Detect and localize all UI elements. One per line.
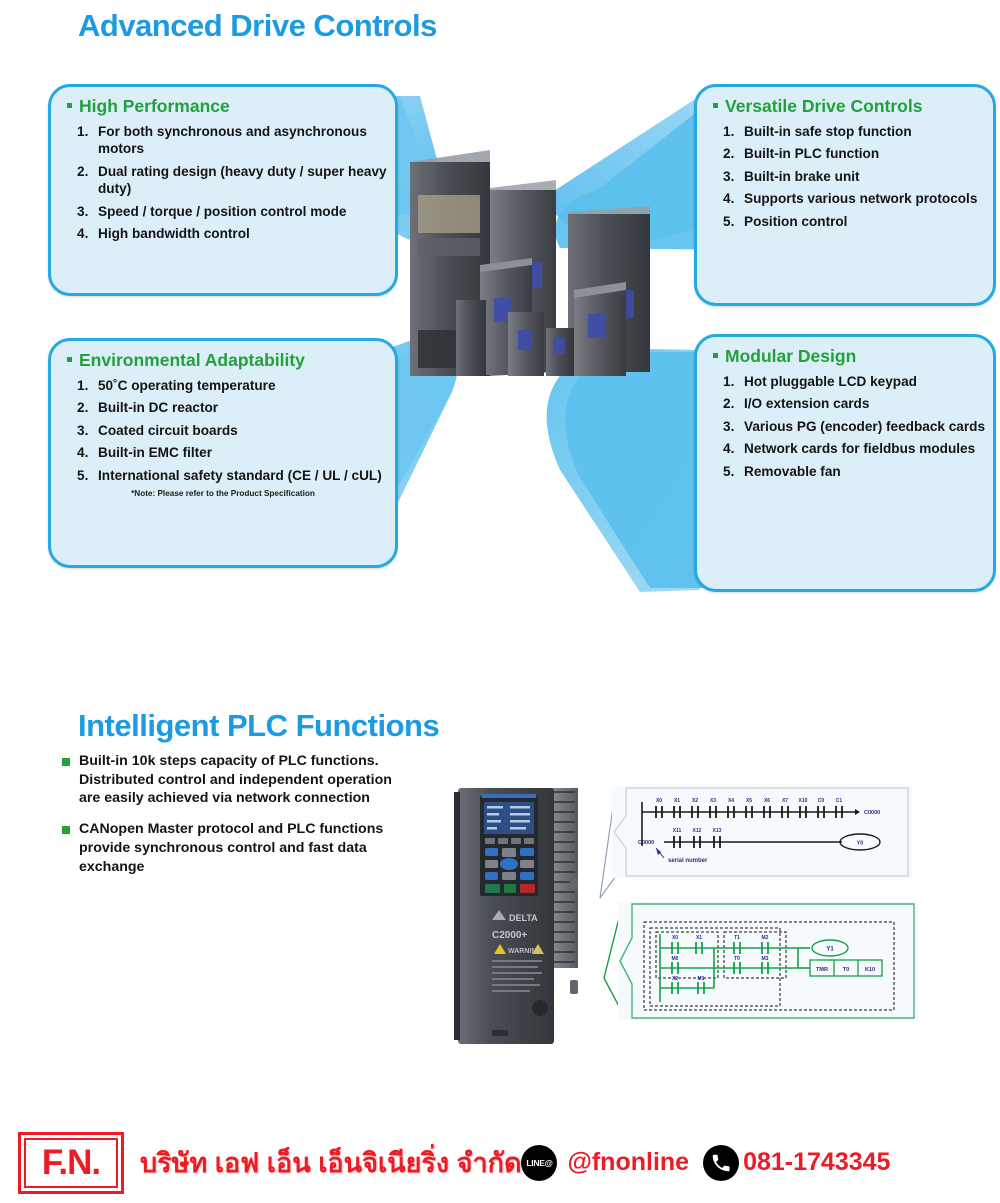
svg-text:X11: X11 [673,828,682,834]
svg-text:C2000+: C2000+ [492,930,527,941]
svg-text:C0000: C0000 [638,840,654,846]
svg-text:C0: C0 [818,798,825,804]
svg-text:T0: T0 [843,967,849,973]
box-heading-modular-design: Modular Design [697,337,993,369]
svg-text:TMR: TMR [816,967,828,973]
svg-text:M1: M1 [698,976,705,982]
info-box-modular-design: Modular Design Hot pluggable LCD keypad … [694,334,996,592]
list-item: Built-in 10k steps capacity of PLC funct… [62,752,392,808]
plc-feature-list: Built-in 10k steps capacity of PLC funct… [62,752,392,888]
ladder-diagram-serial-number: X0X1X2 X3X4X5 X6X7X10 C0C1 C0000 C0000 X… [612,786,912,878]
company-name-thai: บริษัท เอฟ เอ็น เอ็นจิเนียริ่ง จำกัด [140,1141,521,1184]
line-id-text[interactable]: @fnonline [567,1148,689,1177]
list-item: High bandwidth control [77,225,387,242]
svg-text:X0: X0 [672,935,678,941]
svg-text:T1: T1 [734,935,740,941]
feature-list-environmental-adaptability: 50˚C operating temperature Built-in DC r… [51,377,395,484]
list-item: Network cards for fieldbus modules [723,440,985,457]
fn-company-logo: F.N. [18,1132,124,1194]
info-box-environmental-adaptability: Environmental Adaptability 50˚C operatin… [48,338,398,568]
feature-list-versatile-drive-controls: Built-in safe stop function Built-in PLC… [697,123,993,230]
phone-number-text[interactable]: 081-1743345 [743,1148,890,1177]
svg-text:X4: X4 [728,798,734,804]
svg-text:X3: X3 [710,798,716,804]
svg-text:X13: X13 [713,828,722,834]
square-bullet-icon [62,826,70,834]
svg-text:X6: X6 [764,798,770,804]
svg-text:X1: X1 [674,798,680,804]
svg-text:T0: T0 [734,956,740,962]
svg-text:X5: X5 [746,798,752,804]
box-heading-versatile-drive-controls: Versatile Drive Controls [697,87,993,119]
svg-text:X12: X12 [693,828,702,834]
list-item: Removable fan [723,463,985,480]
svg-text:X7: X7 [782,798,788,804]
list-item: Built-in brake unit [723,168,985,185]
ladder-diagram-timer-logic: X0X1 T1M2 M0T0M3 X2M1 Y1 TMRT0K10 [618,902,918,1020]
page-title-intelligent-plc-functions: Intelligent PLC Functions [78,708,439,744]
box-heading-text: Environmental Adaptability [79,350,305,371]
list-item: Built-in safe stop function [723,123,985,140]
list-item-text: Built-in 10k steps capacity of PLC funct… [79,752,392,808]
feature-list-high-performance: For both synchronous and asynchronous mo… [51,123,395,242]
svg-text:DELTA: DELTA [509,913,538,923]
list-item-text: CANopen Master protocol and PLC function… [79,820,392,876]
list-item: Built-in EMC filter [77,444,387,461]
svg-text:serial number: serial number [668,858,708,864]
square-bullet-icon [67,357,72,362]
svg-text:X2: X2 [672,976,678,982]
svg-text:Y1: Y1 [826,947,834,953]
list-item: Dual rating design (heavy duty / super h… [77,163,387,198]
list-item: Built-in PLC function [723,145,985,162]
box-heading-text: Modular Design [725,346,856,367]
svg-text:Y0: Y0 [857,841,864,847]
svg-text:WARNING: WARNING [508,948,542,955]
list-item: Supports various network protocols [723,190,985,207]
specification-note: *Note: Please refer to the Product Speci… [51,489,395,498]
square-bullet-icon [67,103,72,108]
svg-text:M3: M3 [762,956,769,962]
list-item: 50˚C operating temperature [77,377,387,394]
svg-text:K10: K10 [865,967,875,973]
feature-list-modular-design: Hot pluggable LCD keypad I/O extension c… [697,373,993,480]
svg-text:C0000: C0000 [864,810,880,816]
info-box-high-performance: High Performance For both synchronous an… [48,84,398,296]
line-badge-text: LINE@ [526,1158,552,1168]
footer-contact-bar: F.N. บริษัท เอฟ เอ็น เอ็นจิเนียริ่ง จำกั… [0,1122,1000,1203]
svg-text:M0: M0 [672,956,679,962]
svg-text:C1: C1 [836,798,843,804]
list-item: CANopen Master protocol and PLC function… [62,820,392,876]
box-heading-environmental-adaptability: Environmental Adaptability [51,341,395,373]
list-item: For both synchronous and asynchronous mo… [77,123,387,158]
box-heading-text: High Performance [79,96,230,117]
square-bullet-icon [713,353,718,358]
list-item: Speed / torque / position control mode [77,203,387,220]
list-item: Position control [723,213,985,230]
list-item: International safety standard (CE / UL /… [77,467,387,484]
list-item: Various PG (encoder) feedback cards [723,418,985,435]
square-bullet-icon [713,103,718,108]
vfd-drive-photo: DELTA C2000+ WARNING [452,782,592,1050]
info-box-versatile-drive-controls: Versatile Drive Controls Built-in safe s… [694,84,996,306]
svg-text:X1: X1 [696,935,702,941]
list-item: Coated circuit boards [77,422,387,439]
fn-logo-text: F.N. [24,1138,118,1188]
product-family-photo [398,140,668,385]
svg-text:X2: X2 [692,798,698,804]
list-item: Hot pluggable LCD keypad [723,373,985,390]
svg-text:M2: M2 [762,935,769,941]
phone-icon[interactable] [703,1145,739,1181]
box-heading-high-performance: High Performance [51,87,395,119]
square-bullet-icon [62,758,70,766]
phone-handset-glyph [710,1152,732,1174]
svg-text:X10: X10 [799,798,808,804]
line-app-icon[interactable]: LINE@ [521,1145,557,1181]
list-item: Built-in DC reactor [77,399,387,416]
box-heading-text: Versatile Drive Controls [725,96,922,117]
list-item: I/O extension cards [723,395,985,412]
svg-text:X0: X0 [656,798,662,804]
